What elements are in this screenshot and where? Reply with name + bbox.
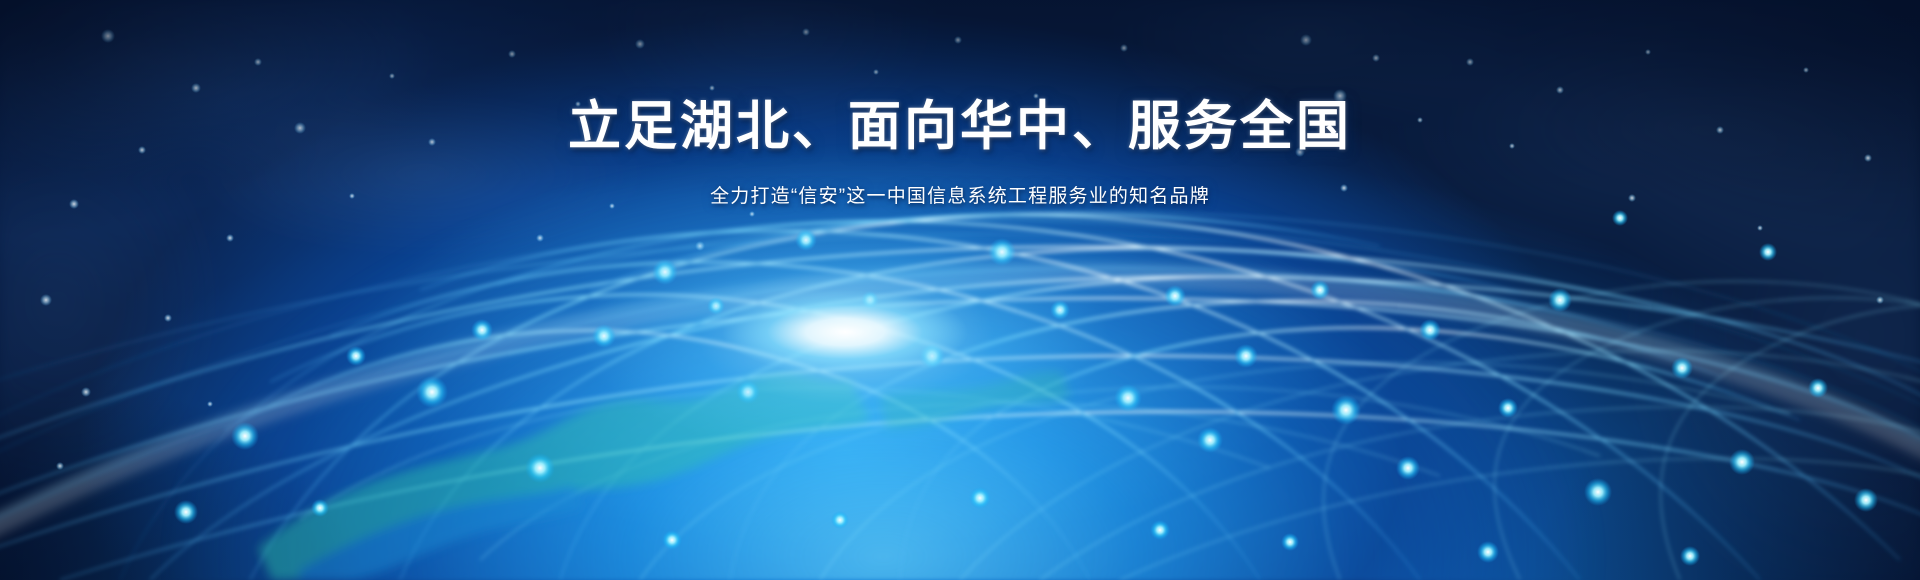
corner-vignette <box>0 0 1920 580</box>
hero-banner: 立足湖北、面向华中、服务全国 全力打造“信安”这一中国信息系统工程服务业的知名品… <box>0 0 1920 580</box>
globe-rim <box>0 267 1920 548</box>
banner-subheadline: 全力打造“信安”这一中国信息系统工程服务业的知名品牌 <box>0 181 1920 208</box>
globe-glow <box>0 0 1920 580</box>
network-arcs-back <box>0 212 1920 580</box>
banner-copy: 立足湖北、面向华中、服务全国 全力打造“信安”这一中国信息系统工程服务业的知名品… <box>0 96 1920 208</box>
network-arcs-main <box>0 214 1920 580</box>
banner-headline: 立足湖北、面向华中、服务全国 <box>0 96 1920 159</box>
starfield <box>40 28 1884 470</box>
space-background <box>0 0 1920 580</box>
light-burst <box>0 0 1920 580</box>
network-nodes <box>174 210 1878 566</box>
network-mesh-fine <box>300 281 1920 580</box>
network-globe-artwork <box>0 0 1920 580</box>
earth-landmass <box>258 372 1070 580</box>
nebula-clouds <box>0 0 1920 580</box>
top-fade <box>0 0 1920 580</box>
